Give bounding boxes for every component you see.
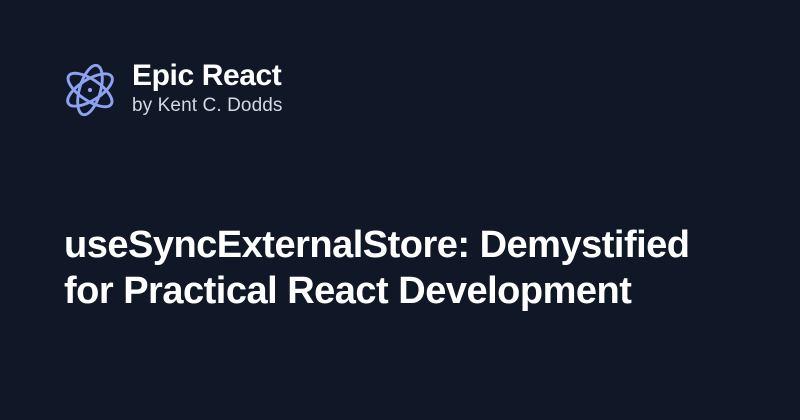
brand-text-block: Epic React by Kent C. Dodds [132,60,283,119]
brand-subtitle: by Kent C. Dodds [132,94,283,118]
page-title: useSyncExternalStore: Demystified for Pr… [64,222,724,314]
brand-title: Epic React [132,60,283,92]
social-card-slide: Epic React by Kent C. Dodds useSyncExter… [0,0,800,420]
atom-icon [62,61,118,119]
brand-lockup: Epic React by Kent C. Dodds [62,60,283,119]
